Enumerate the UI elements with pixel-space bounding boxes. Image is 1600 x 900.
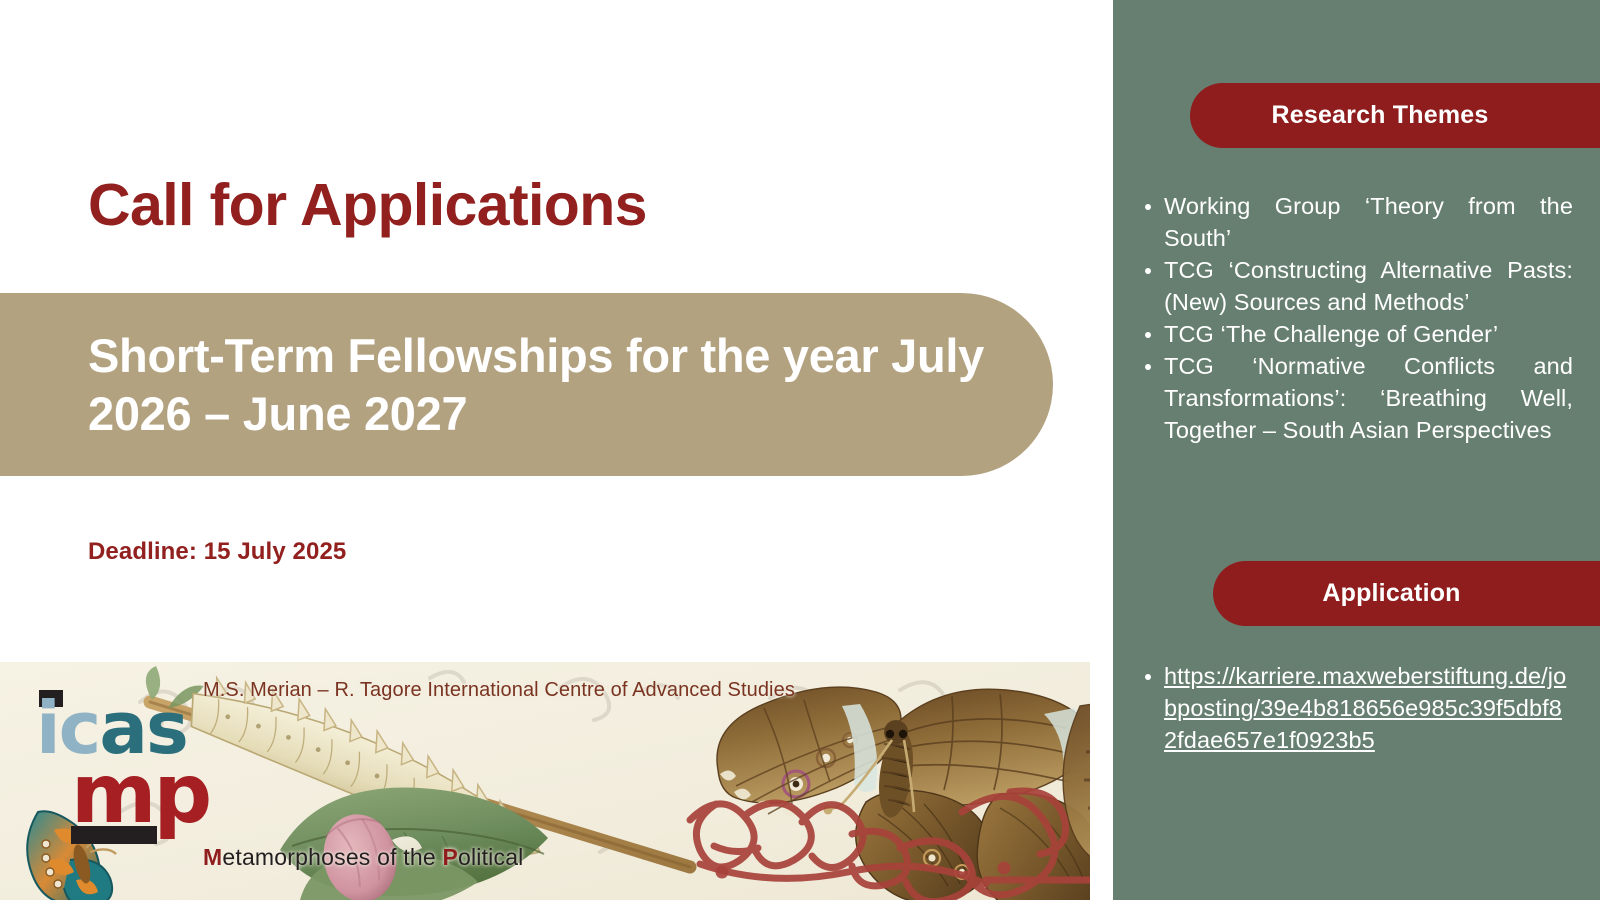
- tagline-cap-m: M: [203, 844, 222, 870]
- right-sidebar: Research Themes Working Group ‘Theory fr…: [1113, 0, 1600, 900]
- deadline-text: Deadline: 15 July 2025: [88, 538, 346, 566]
- slide-canvas: Call for Applications Short-Term Fellows…: [0, 0, 1600, 900]
- tagline-mid: etamorphoses of the: [222, 844, 442, 870]
- list-item: TCG ‘Normative Conflicts and Transformat…: [1131, 350, 1573, 446]
- badge-research-themes: Research Themes: [1190, 83, 1600, 148]
- theme-item-text: TCG ‘Normative Conflicts and Transformat…: [1164, 350, 1573, 446]
- theme-item-text: Working Group ‘Theory from the South’: [1164, 190, 1573, 254]
- tagline-cap-p: P: [442, 844, 458, 870]
- footer-banner-image: icas mp M.S. Merian – R. Tagore Internat…: [0, 662, 1090, 900]
- list-item[interactable]: https://karriere.maxweberstiftung.de/job…: [1131, 660, 1573, 756]
- theme-item-text: TCG ‘The Challenge of Gender’: [1164, 318, 1573, 350]
- application-list: https://karriere.maxweberstiftung.de/job…: [1131, 660, 1573, 756]
- list-item: TCG ‘The Challenge of Gender’: [1131, 318, 1573, 350]
- list-item: TCG ‘Constructing Alternative Pasts: (Ne…: [1131, 254, 1573, 318]
- page-title: Call for Applications: [88, 175, 647, 237]
- headline-pill: Short-Term Fellowships for the year July…: [0, 293, 1053, 476]
- list-item: Working Group ‘Theory from the South’: [1131, 190, 1573, 254]
- theme-item-text: TCG ‘Constructing Alternative Pasts: (Ne…: [1164, 254, 1573, 318]
- icasmp-logo: icas mp: [18, 682, 193, 892]
- badge-application: Application: [1213, 561, 1600, 626]
- logo-bar-bottom: [71, 826, 157, 844]
- left-content-column: Call for Applications Short-Term Fellows…: [0, 0, 1113, 900]
- application-url-link[interactable]: https://karriere.maxweberstiftung.de/job…: [1164, 660, 1573, 756]
- tagline-suffix: olitical: [458, 844, 524, 870]
- headline-text: Short-Term Fellowships for the year July…: [0, 327, 1053, 443]
- banner-institution-name: M.S. Merian – R. Tagore International Ce…: [203, 679, 795, 702]
- logo-mp-text: mp: [71, 754, 209, 836]
- banner-tagline: Metamorphoses of the Political: [203, 844, 524, 871]
- research-themes-list: Working Group ‘Theory from the South’ TC…: [1131, 190, 1573, 447]
